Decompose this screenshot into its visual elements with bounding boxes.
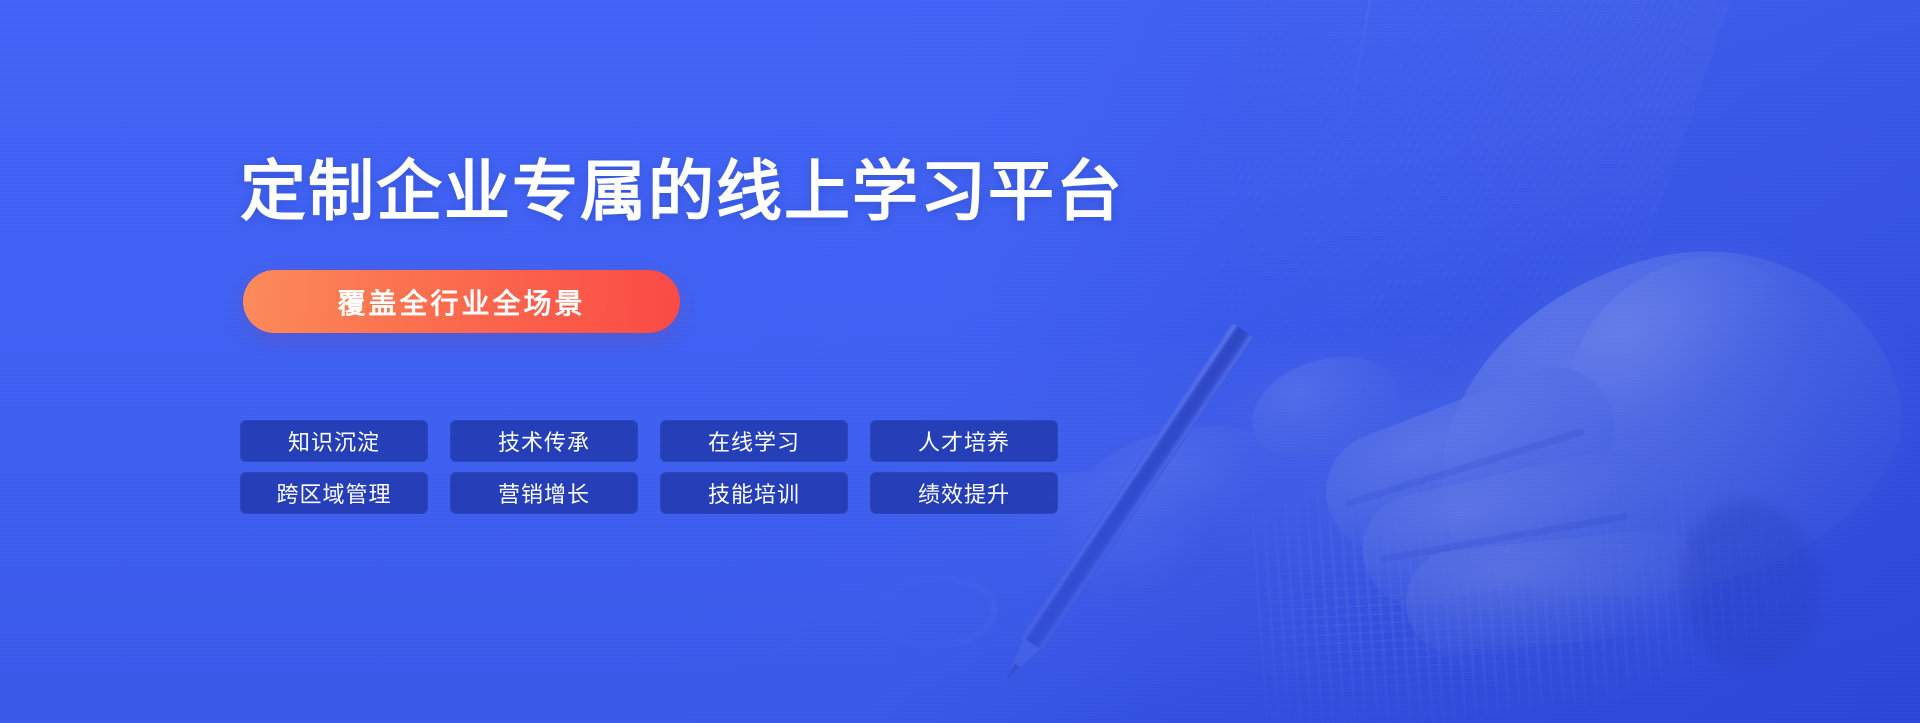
banner-headline: 定制企业专属的线上学习平台	[240, 158, 1124, 224]
tag-chip[interactable]: 技能培训	[660, 472, 848, 514]
tag-chip[interactable]: 营销增长	[450, 472, 638, 514]
tag-chip[interactable]: 绩效提升	[870, 472, 1058, 514]
tag-chip[interactable]: 跨区域管理	[240, 472, 428, 514]
hero-banner: 定制企业专属的线上学习平台 覆盖全行业全场景 知识沉淀 技术传承 在线学习 人才…	[0, 0, 1920, 723]
coverage-cta-button[interactable]: 覆盖全行业全场景	[243, 270, 680, 333]
banner-content: 定制企业专属的线上学习平台 覆盖全行业全场景 知识沉淀 技术传承 在线学习 人才…	[240, 0, 1220, 723]
tag-chip[interactable]: 知识沉淀	[240, 420, 428, 462]
tag-chip[interactable]: 在线学习	[660, 420, 848, 462]
tag-chip[interactable]: 技术传承	[450, 420, 638, 462]
tag-chip[interactable]: 人才培养	[870, 420, 1058, 462]
scenario-tag-grid: 知识沉淀 技术传承 在线学习 人才培养 跨区域管理 营销增长 技能培训 绩效提升	[240, 420, 1058, 514]
